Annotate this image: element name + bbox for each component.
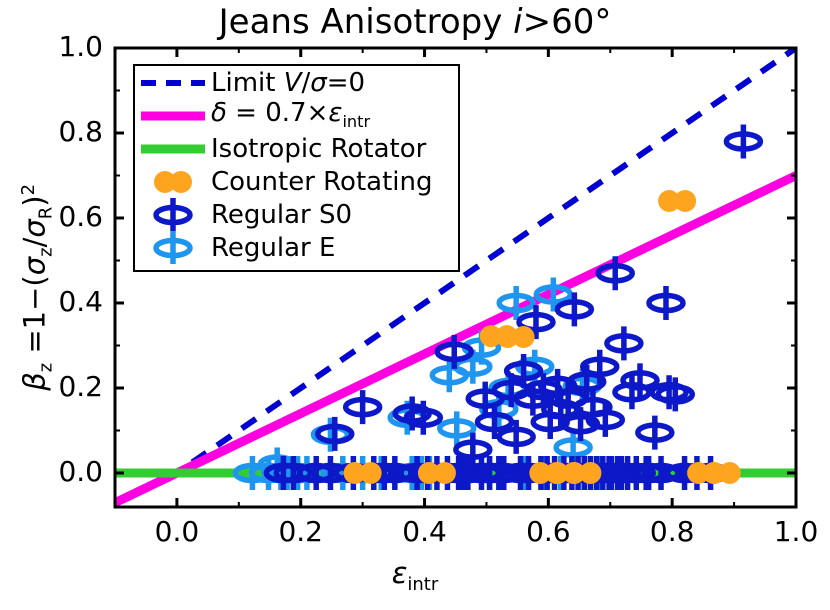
legend-item[interactable]: Isotropic Rotator — [135, 132, 458, 165]
legend-swatch — [135, 231, 211, 264]
legend-item-label: Isotropic Rotator — [211, 136, 426, 162]
legend-item-label: δ = 0.7×εintr — [211, 100, 370, 130]
data-point-right — [719, 462, 741, 484]
legend-swatch-svg — [135, 165, 211, 198]
legend-swatch-svg — [135, 198, 211, 231]
legend-item-label: Regular S0 — [211, 202, 352, 228]
legend-item-label: Limit V/σ=0 — [211, 70, 365, 96]
data-point-right — [674, 190, 696, 212]
legend-item-label: Regular E — [211, 235, 335, 261]
x-tick-label: 0.6 — [513, 515, 583, 548]
legend-swatch — [135, 198, 211, 231]
legend-swatch-svg — [135, 66, 211, 99]
legend-swatch — [135, 99, 211, 132]
x-tick-label: 1.0 — [761, 515, 830, 548]
x-axis-label: εintr — [0, 556, 830, 595]
legend-item[interactable]: Counter Rotating — [135, 165, 458, 198]
legend-swatch-svg — [135, 99, 211, 132]
x-tick-label: 0.2 — [266, 515, 336, 548]
legend-item-label: Counter Rotating — [211, 169, 433, 195]
data-point-right — [513, 326, 535, 348]
legend-rows: Limit V/σ=0δ = 0.7×εintrIsotropic Rotato… — [135, 66, 458, 264]
jeans-anisotropy-figure: Jeans Anisotropy i>60° 0.00.20.40.60.81.… — [0, 0, 830, 606]
legend-swatch — [135, 165, 211, 198]
legend-item[interactable]: δ = 0.7×εintr — [135, 99, 458, 132]
data-point-right — [360, 462, 382, 484]
legend-swatch — [135, 132, 211, 165]
legend-item[interactable]: Limit V/σ=0 — [135, 66, 458, 99]
data-point-right — [579, 462, 601, 484]
legend-swatch-svg — [135, 132, 211, 165]
legend-item[interactable]: Regular S0 — [135, 198, 458, 231]
legend-swatch-svg — [135, 231, 211, 264]
legend-swatch — [135, 66, 211, 99]
x-tick-label: 0.8 — [637, 515, 707, 548]
legend-item[interactable]: Regular E — [135, 231, 458, 264]
legend-dot-icon-right — [170, 171, 192, 193]
data-point-right — [434, 462, 456, 484]
legend: Limit V/σ=0δ = 0.7×εintrIsotropic Rotato… — [133, 64, 460, 272]
y-axis-label: βz =1−(σz/σR)2 — [18, 87, 57, 487]
x-tick-label: 0.0 — [142, 515, 212, 548]
x-tick-label: 0.4 — [390, 515, 460, 548]
y-tick-label: 1.0 — [33, 30, 103, 63]
